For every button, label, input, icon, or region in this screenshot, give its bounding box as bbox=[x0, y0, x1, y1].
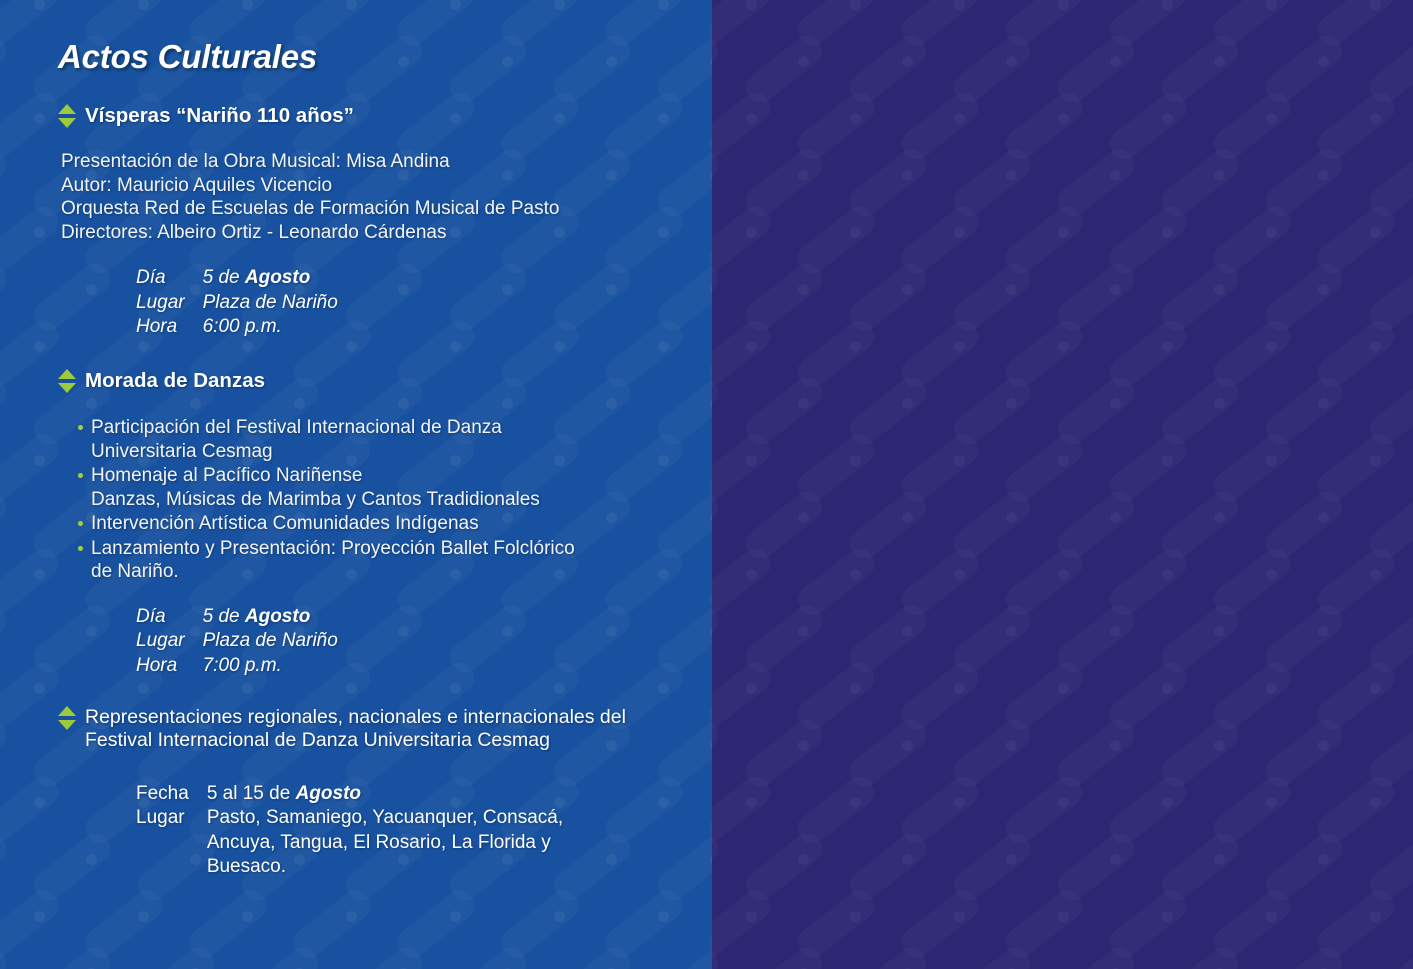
page-title-actos-culturales: Actos Culturales bbox=[58, 38, 712, 76]
detail-label: Hora bbox=[136, 315, 203, 339]
event-bullet-list: Participación del Festival Internacional… bbox=[77, 416, 712, 584]
event-heading-row: Representaciones regionales, nacionales … bbox=[58, 706, 712, 751]
detail-value: 5 de Agosto bbox=[203, 266, 338, 290]
detail-row: Fecha 5 al 15 de Agosto bbox=[136, 782, 563, 806]
detail-label: Hora bbox=[136, 654, 203, 678]
detail-value: 6:00 p.m. bbox=[203, 315, 338, 339]
diamond-bullet-icon bbox=[58, 369, 77, 393]
diamond-bullet-icon bbox=[58, 104, 77, 128]
event-heading-row: Vísperas “Nariño 110 años” bbox=[58, 104, 712, 128]
description-line: Directores: Albeiro Ortiz - Leonardo Cár… bbox=[61, 221, 712, 245]
detail-value: Plaza de Nariño bbox=[203, 291, 338, 315]
description-line: Presentación de la Obra Musical: Misa An… bbox=[61, 150, 712, 174]
program-page: Actos Culturales Vísperas “Nariño 110 añ… bbox=[0, 0, 1413, 969]
event-description: Presentación de la Obra Musical: Misa An… bbox=[61, 150, 712, 244]
diamond-bullet-icon bbox=[58, 706, 77, 730]
detail-label: Lugar bbox=[136, 629, 203, 653]
right-panel-content: Verbena Popular y Juegos Pirotécnicos Pa… bbox=[712, 0, 1413, 969]
event-heading-row: Morada de Danzas bbox=[58, 369, 712, 393]
detail-row: Hora 6:00 p.m. bbox=[136, 315, 338, 339]
detail-label: Día bbox=[136, 605, 203, 629]
description-line: Orquesta Red de Escuelas de Formación Mu… bbox=[61, 197, 712, 221]
detail-value: Plaza de Nariño bbox=[203, 629, 338, 653]
detail-row: Lugar Pasto, Samaniego, Yacuanquer, Cons… bbox=[136, 806, 563, 879]
event-detail-table: Día 5 de Agosto Lugar Plaza de Nariño Ho… bbox=[136, 266, 338, 339]
event-visperas: Vísperas “Nariño 110 años” Presentación … bbox=[58, 104, 712, 339]
left-panel-content: Actos Culturales Vísperas “Nariño 110 añ… bbox=[0, 0, 712, 969]
detail-row: Día 5 de Agosto bbox=[136, 266, 338, 290]
event-morada-de-danzas: Morada de Danzas Participación del Festi… bbox=[58, 369, 712, 678]
detail-value: 5 al 15 de Agosto bbox=[207, 782, 563, 806]
detail-label: Lugar bbox=[136, 806, 207, 879]
detail-row: Lugar Plaza de Nariño bbox=[136, 629, 338, 653]
detail-value: 7:00 p.m. bbox=[203, 654, 338, 678]
right-panel: Verbena Popular y Juegos Pirotécnicos Pa… bbox=[712, 0, 1413, 969]
event-detail-table: Fecha 5 al 15 de Agosto Lugar Pasto, Sam… bbox=[136, 782, 563, 879]
list-item: Intervención Artística Comunidades Indíg… bbox=[77, 512, 712, 536]
event-representaciones: Representaciones regionales, nacionales … bbox=[58, 706, 712, 879]
list-item: Participación del Festival Internacional… bbox=[77, 416, 712, 463]
event-detail-table: Día 5 de Agosto Lugar Plaza de Nariño Ho… bbox=[136, 605, 338, 678]
event-heading: Morada de Danzas bbox=[85, 369, 265, 393]
event-heading: Representaciones regionales, nacionales … bbox=[85, 706, 626, 751]
event-heading: Vísperas “Nariño 110 años” bbox=[85, 104, 354, 128]
list-item: Lanzamiento y Presentación: Proyección B… bbox=[77, 537, 712, 584]
detail-label: Fecha bbox=[136, 782, 207, 806]
list-item: Homenaje al Pacífico Nariñense Danzas, M… bbox=[77, 464, 712, 511]
left-panel: Actos Culturales Vísperas “Nariño 110 añ… bbox=[0, 0, 712, 969]
detail-row: Día 5 de Agosto bbox=[136, 605, 338, 629]
description-line: Autor: Mauricio Aquiles Vicencio bbox=[61, 174, 712, 198]
detail-value: Pasto, Samaniego, Yacuanquer, Consacá, A… bbox=[207, 806, 563, 879]
detail-label: Lugar bbox=[136, 291, 203, 315]
detail-row: Hora 7:00 p.m. bbox=[136, 654, 338, 678]
detail-label: Día bbox=[136, 266, 203, 290]
detail-row: Lugar Plaza de Nariño bbox=[136, 291, 338, 315]
detail-value: 5 de Agosto bbox=[203, 605, 338, 629]
